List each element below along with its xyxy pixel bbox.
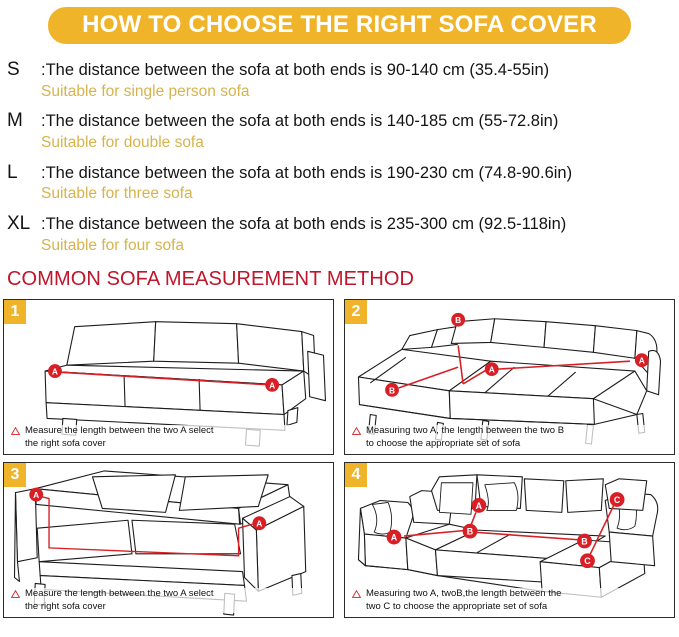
svg-text:B: B <box>467 527 473 537</box>
measurement-panel-4: 4 <box>344 462 675 618</box>
warning-triangle-icon <box>352 427 361 435</box>
marker-b-top: B <box>451 313 465 327</box>
size-suitable-xl: Suitable for four sofa <box>41 235 679 255</box>
size-description-l: :The distance between the sofa at both e… <box>41 164 572 184</box>
size-suitable-l: Suitable for three sofa <box>41 183 679 203</box>
marker-a-right: A <box>635 353 649 367</box>
panel-number-badge-4: 4 <box>345 463 367 487</box>
svg-text:A: A <box>639 356 645 366</box>
panel-number-badge-3: 3 <box>4 463 26 487</box>
measurement-panel-1: 1 <box>3 299 334 455</box>
panel-caption-2: Measuring two A, the length between the … <box>352 425 670 450</box>
warning-triangle-icon <box>352 590 361 598</box>
marker-a-top: A <box>471 498 486 513</box>
marker-c-top: C <box>610 492 625 507</box>
size-row-m: M :The distance between the sofa at both… <box>7 110 679 152</box>
header-banner: HOW TO CHOOSE THE RIGHT SOFA COVER <box>0 0 679 44</box>
svg-text:A: A <box>489 365 495 375</box>
svg-text:A: A <box>391 533 398 543</box>
marker-b-right: B <box>577 534 592 549</box>
size-key-m: M <box>7 110 41 132</box>
page-title: HOW TO CHOOSE THE RIGHT SOFA COVER <box>48 7 631 44</box>
size-guide-list: S :The distance between the sofa at both… <box>0 59 679 255</box>
panel-caption-text-2: Measuring two A, the length between the … <box>366 425 564 450</box>
panel-caption-text-1: Measure the length between the two A sel… <box>25 425 214 450</box>
size-suitable-s: Suitable for single person sofa <box>41 81 679 101</box>
svg-text:A: A <box>33 490 39 500</box>
marker-b-left: B <box>463 524 478 539</box>
svg-text:C: C <box>584 556 591 566</box>
section-title: COMMON SOFA MEASUREMENT METHOD <box>0 268 679 291</box>
size-key-l: L <box>7 162 41 184</box>
size-description-s: :The distance between the sofa at both e… <box>41 61 549 81</box>
size-row-s: S :The distance between the sofa at both… <box>7 59 679 101</box>
marker-a-left: A <box>48 364 62 378</box>
size-row-l: L :The distance between the sofa at both… <box>7 162 679 204</box>
warning-triangle-icon <box>11 427 20 435</box>
panel-caption-text-4: Measuring two A, twoB,the length between… <box>366 588 561 613</box>
measurement-panel-grid: 1 <box>0 299 679 618</box>
svg-text:B: B <box>389 385 395 395</box>
marker-c-bottom: C <box>580 553 595 568</box>
measurement-panel-3: 3 <box>3 462 334 618</box>
svg-text:B: B <box>455 315 461 325</box>
size-row-xl: XL :The distance between the sofa at bot… <box>7 213 679 255</box>
marker-b-bottom: B <box>385 383 399 397</box>
svg-text:A: A <box>476 501 483 511</box>
svg-text:A: A <box>269 380 275 390</box>
size-key-xl: XL <box>7 213 41 235</box>
size-key-s: S <box>7 59 41 81</box>
marker-a-left: A <box>29 488 43 502</box>
panel-caption-1: Measure the length between the two A sel… <box>11 425 329 450</box>
panel-caption-4: Measuring two A, twoB,the length between… <box>352 588 670 613</box>
panel-number-badge-2: 2 <box>345 300 367 324</box>
marker-a-right: A <box>265 378 279 392</box>
panel-number-badge-1: 1 <box>4 300 26 324</box>
size-description-m: :The distance between the sofa at both e… <box>41 112 558 132</box>
panel-caption-text-3: Measure the length between the two A sel… <box>25 588 214 613</box>
size-suitable-m: Suitable for double sofa <box>41 132 679 152</box>
svg-text:A: A <box>256 519 262 529</box>
warning-triangle-icon <box>11 590 20 598</box>
panel-caption-3: Measure the length between the two A sel… <box>11 588 329 613</box>
marker-a-left: A <box>387 530 402 545</box>
svg-text:A: A <box>52 367 58 377</box>
svg-text:C: C <box>614 495 621 505</box>
svg-text:B: B <box>581 537 587 547</box>
measurement-panel-2: 2 <box>344 299 675 455</box>
marker-a-right: A <box>252 516 266 530</box>
size-description-xl: :The distance between the sofa at both e… <box>41 215 566 235</box>
marker-a-center: A <box>485 362 499 376</box>
